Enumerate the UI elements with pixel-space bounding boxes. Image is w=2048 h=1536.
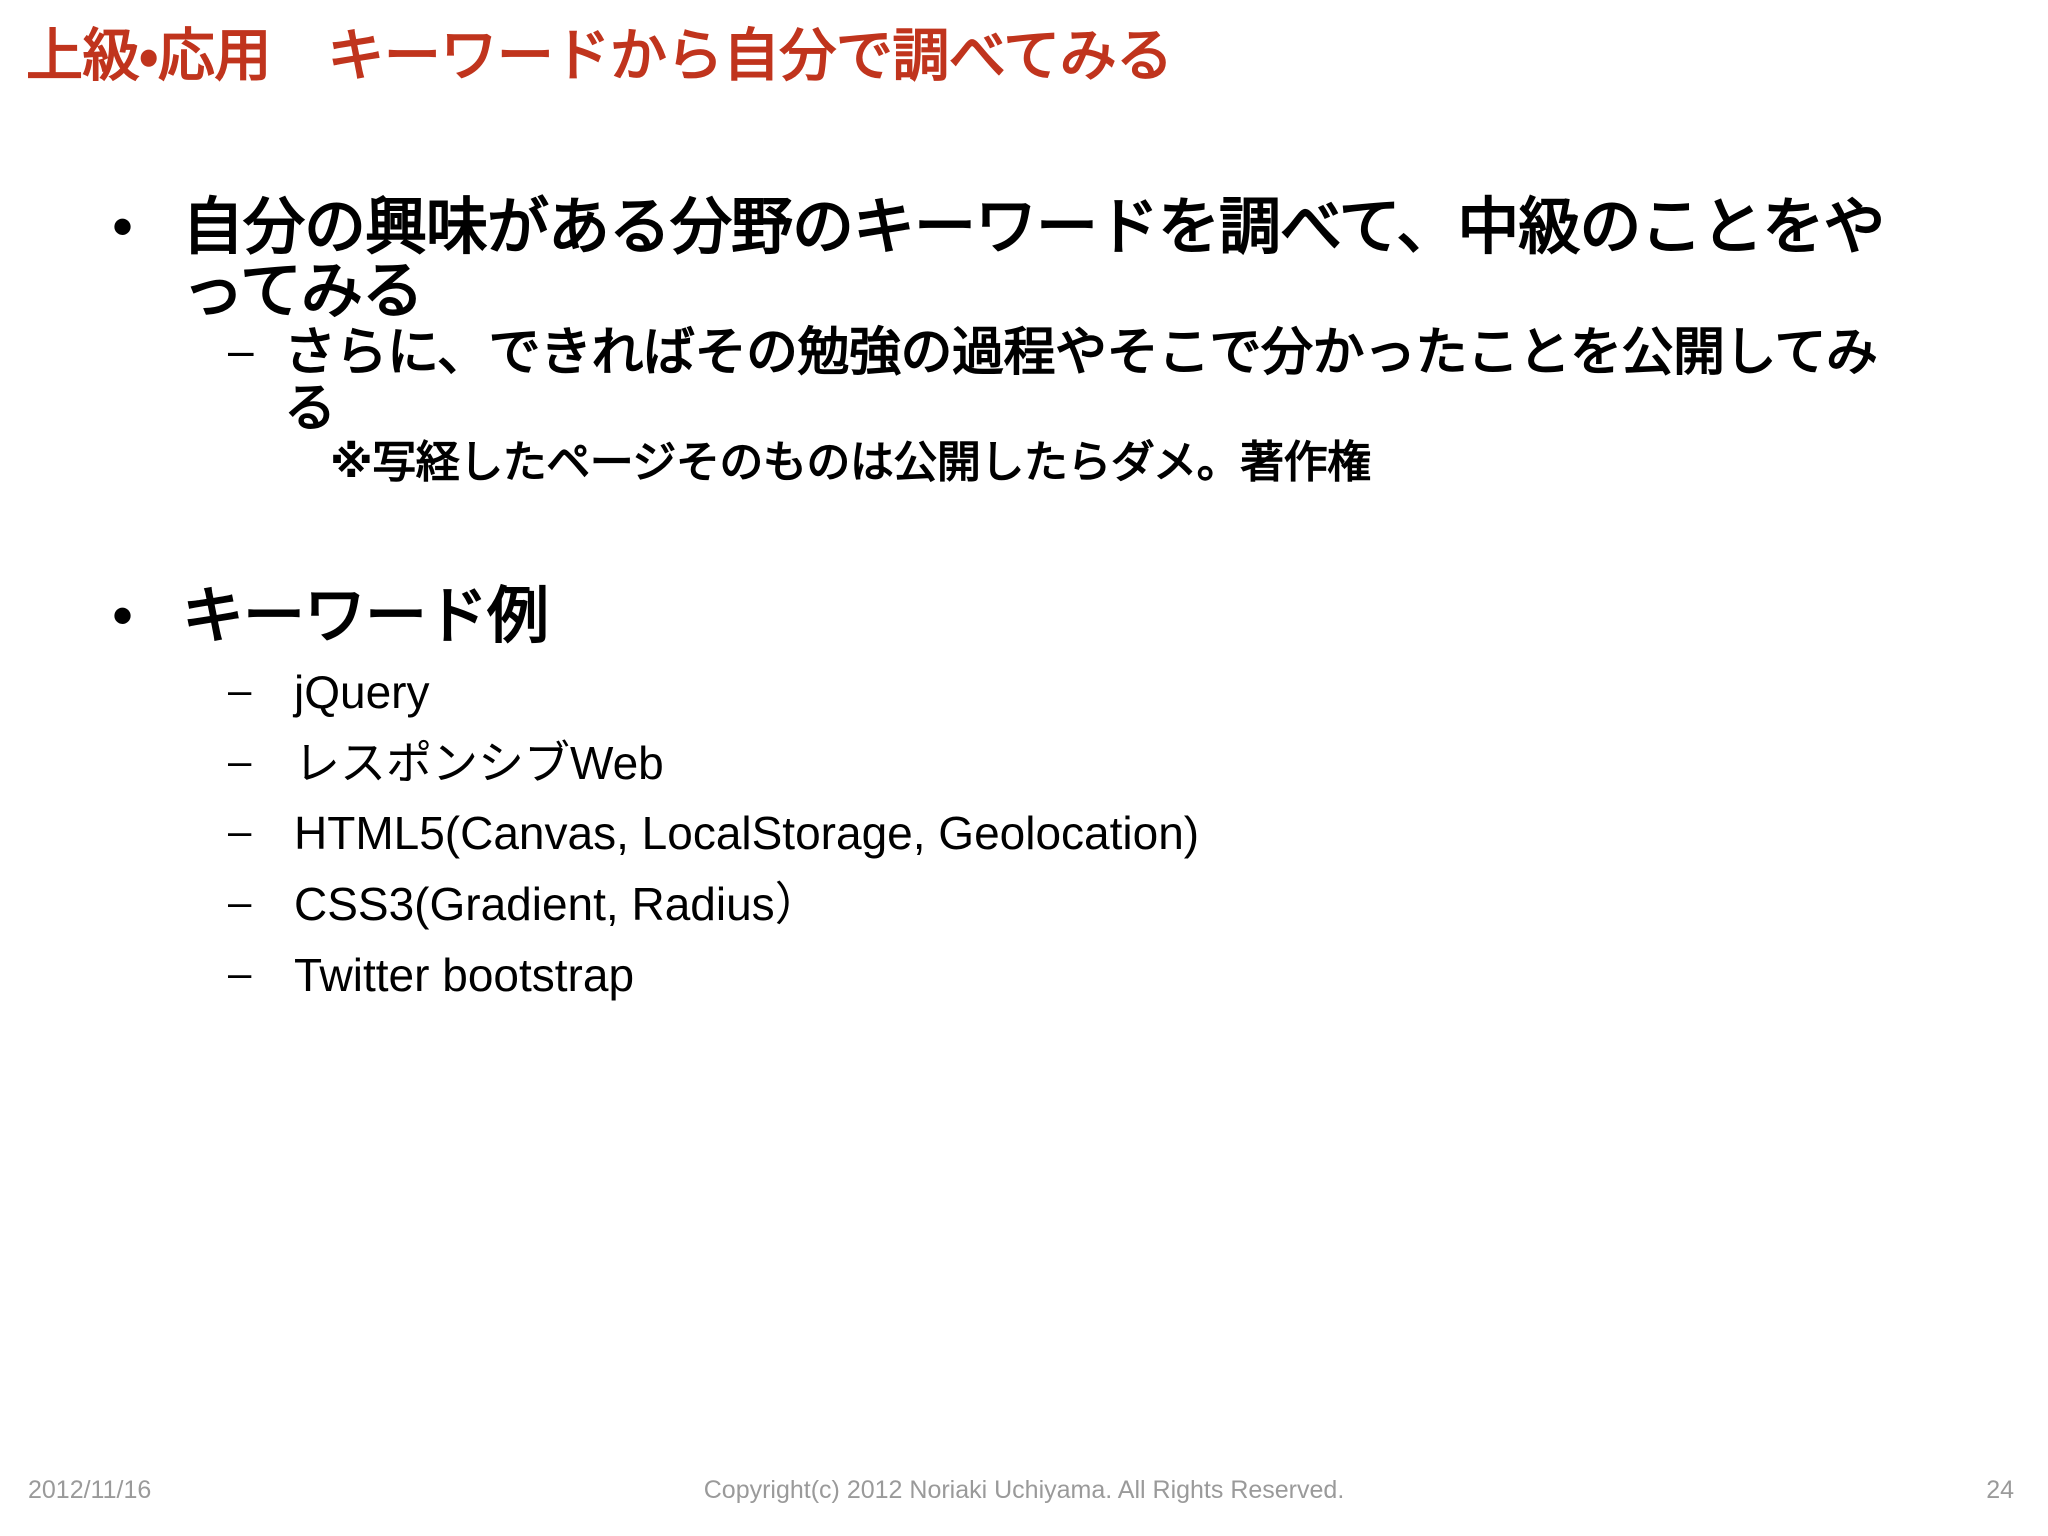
bullet-level2-item: – さらに、できればその勉強の過程やそこで分かったことを公開してみる — [0, 325, 2048, 437]
bullet-dash-icon: – — [228, 878, 294, 926]
slide-title: 上級・応用 キーワードから自分で調べてみる — [26, 24, 1986, 90]
bullet-dash-icon: – — [228, 807, 294, 855]
keyword-list-item: – jQuery — [0, 666, 2048, 719]
bullet-dash-icon: – — [228, 949, 294, 997]
bullet-level1-text-keywords: キーワード例 — [182, 585, 1912, 649]
bullet-level1-text: 自分の興味がある分野のキーワードを調べて、中級のことをやってみる — [182, 196, 1912, 325]
bullet-dash-icon: – — [228, 325, 284, 377]
bullet-dot-icon: • — [112, 585, 182, 647]
keyword-list-item: – Twitter bootstrap — [0, 949, 2048, 1002]
footer-copyright: Copyright(c) 2012 Noriaki Uchiyama. All … — [0, 1470, 2048, 1510]
slide-body: • 自分の興味がある分野のキーワードを調べて、中級のことをやってみる – さらに… — [0, 196, 2048, 1020]
keyword-list-item: – HTML5(Canvas, LocalStorage, Geolocatio… — [0, 807, 2048, 860]
bullet-dash-icon: – — [228, 666, 294, 714]
keyword-list-item: – レスポンシブWeb — [0, 737, 2048, 790]
bullet-level2-text: さらに、できればその勉強の過程やそこで分かったことを公開してみる — [284, 325, 1924, 437]
keyword-label: HTML5(Canvas, LocalStorage, Geolocation) — [294, 807, 1934, 860]
slide-footer: 2012/11/16 Copyright(c) 2012 Noriaki Uch… — [0, 1470, 2048, 1510]
bullet-dash-icon: – — [228, 737, 294, 785]
keyword-label: jQuery — [294, 666, 1934, 719]
bullet-level1-item: • 自分の興味がある分野のキーワードを調べて、中級のことをやってみる — [0, 196, 2048, 325]
footer-page-number: 24 — [1986, 1470, 2014, 1510]
keyword-label: Twitter bootstrap — [294, 949, 1934, 1002]
keyword-label: CSS3(Gradient, Radius） — [294, 878, 1934, 931]
note-line: ※写経したページそのものは公開したらダメ。著作権 — [0, 437, 2048, 489]
bullet-dot-icon: • — [112, 196, 182, 258]
slide-canvas: 上級・応用 キーワードから自分で調べてみる • 自分の興味がある分野のキーワード… — [0, 0, 2048, 1536]
list-spacer — [0, 650, 2048, 666]
bullet-level1-item-keywords: • キーワード例 — [0, 585, 2048, 649]
keyword-label: レスポンシブWeb — [294, 737, 1934, 790]
section-spacer — [0, 489, 2048, 585]
keyword-list-item: – CSS3(Gradient, Radius） — [0, 878, 2048, 931]
